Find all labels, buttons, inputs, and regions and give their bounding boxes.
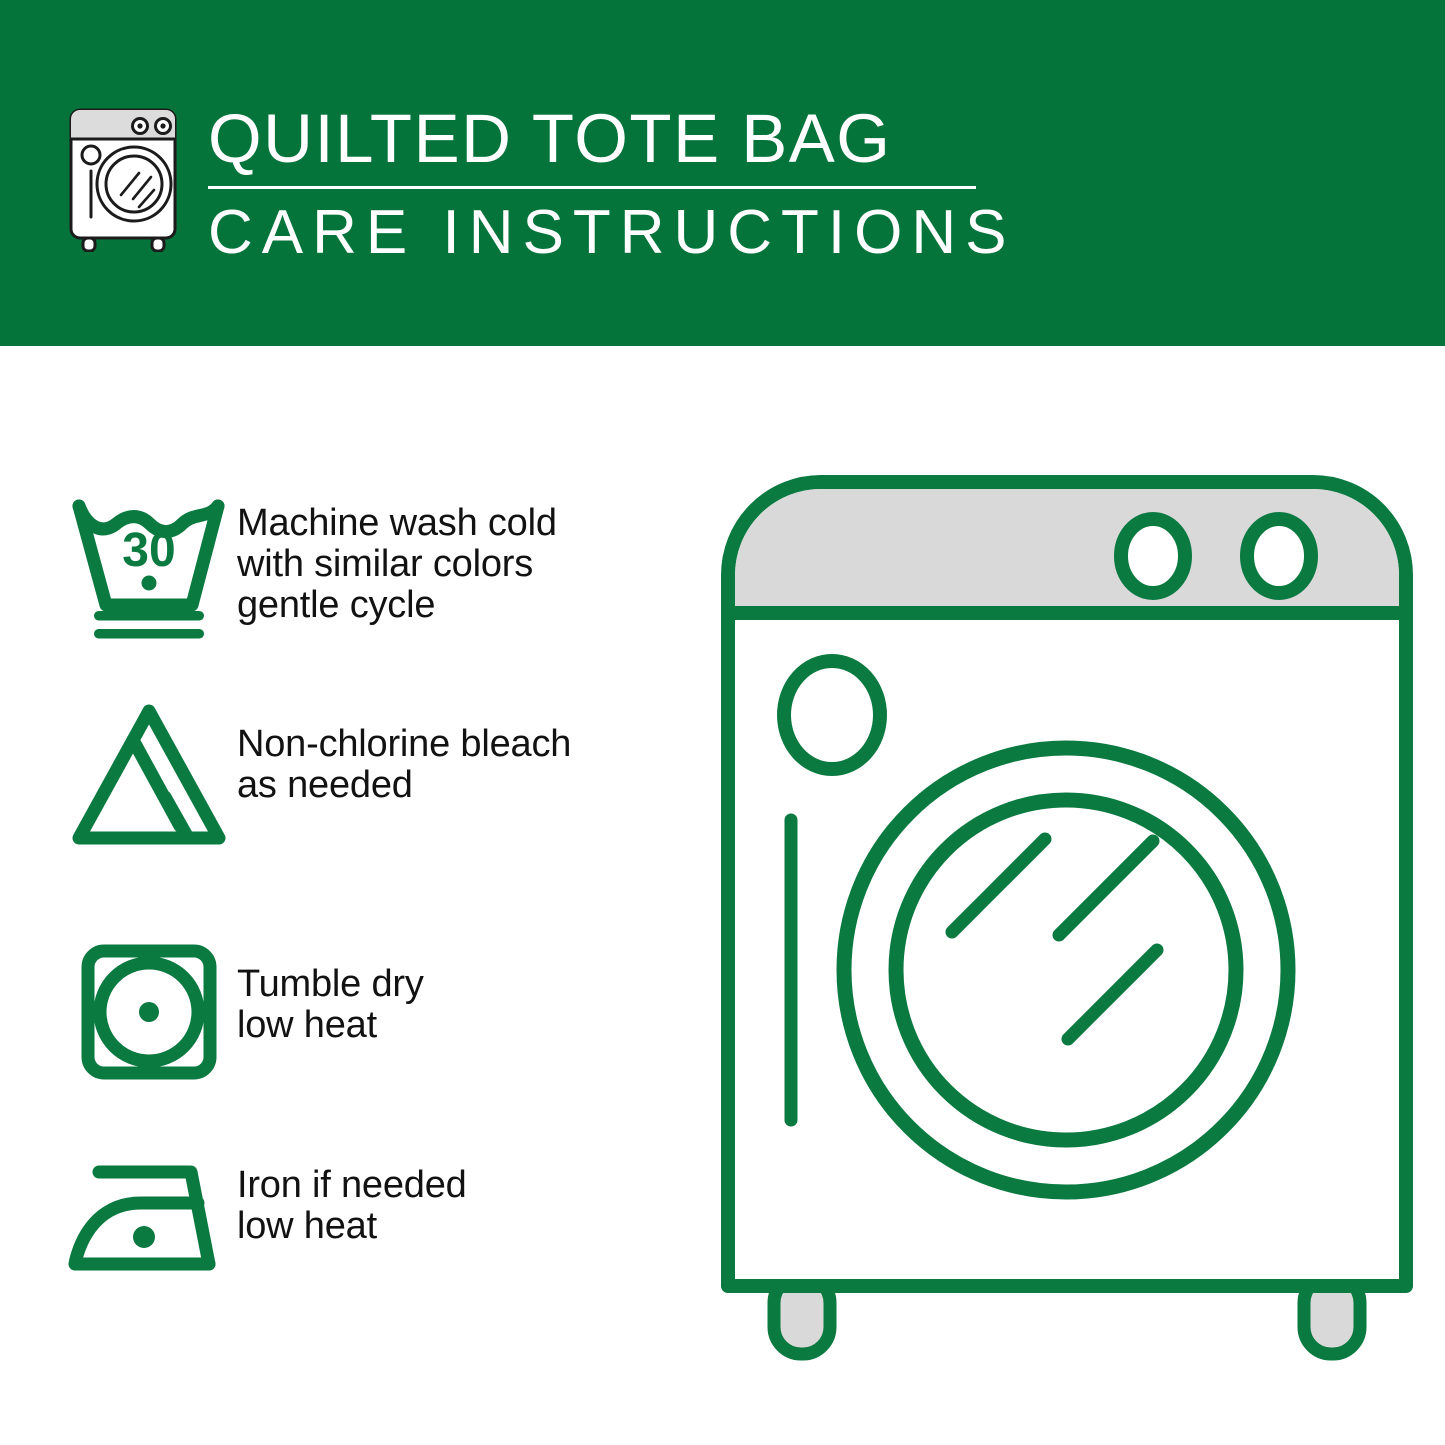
machine-knob-1 <box>1121 519 1185 593</box>
page-title: QUILTED TOTE BAG <box>208 100 998 178</box>
header-band: QUILTED TOTE BAG CARE INSTRUCTIONS <box>0 0 1445 346</box>
care-label-machine-wash: Machine wash cold with similar colors ge… <box>237 483 702 626</box>
header-text-block: QUILTED TOTE BAG CARE INSTRUCTIONS <box>208 100 998 268</box>
care-row-tumble-dry: Tumble dry low heat <box>62 932 702 1092</box>
machine-door-inner-ring <box>896 800 1236 1140</box>
care-label-line: Machine wash cold <box>237 503 702 544</box>
front-load-washing-machine-illustration <box>716 470 1416 1370</box>
care-label-bleach: Non-chlorine bleach as needed <box>237 696 702 806</box>
care-row-iron: Iron if needed low heat <box>62 1139 702 1299</box>
wash-tub-30-gentle-symbol: 30 <box>62 483 237 643</box>
care-label-line: Tumble dry <box>237 964 702 1005</box>
iron-low-heat-symbol <box>62 1139 237 1299</box>
care-row-bleach: Non-chlorine bleach as needed <box>62 696 702 856</box>
wash-temperature-value: 30 <box>122 524 175 577</box>
title-divider <box>208 186 976 189</box>
care-label-line: low heat <box>237 1206 702 1247</box>
care-label-iron: Iron if needed low heat <box>237 1139 702 1247</box>
care-label-line: Non-chlorine bleach <box>237 724 702 765</box>
care-row-machine-wash: 30 Machine wash cold with similar colors… <box>62 483 702 643</box>
machine-knob-2 <box>1247 519 1311 593</box>
care-label-line: gentle cycle <box>237 585 702 626</box>
machine-indicator-light <box>784 661 880 769</box>
care-instructions-infographic: QUILTED TOTE BAG CARE INSTRUCTIONS 30 <box>0 0 1445 1445</box>
care-label-tumble-dry: Tumble dry low heat <box>237 932 702 1046</box>
care-label-line: low heat <box>237 1005 702 1046</box>
care-label-line: Iron if needed <box>237 1165 702 1206</box>
non-chlorine-bleach-triangle-symbol <box>62 696 237 856</box>
tumble-dry-low-symbol <box>62 932 237 1092</box>
care-instructions-list: 30 Machine wash cold with similar colors… <box>0 346 720 1445</box>
care-label-line: with similar colors <box>237 544 702 585</box>
page-subtitle: CARE INSTRUCTIONS <box>208 198 998 268</box>
washing-machine-icon <box>64 104 182 252</box>
care-label-line: as needed <box>237 765 702 806</box>
